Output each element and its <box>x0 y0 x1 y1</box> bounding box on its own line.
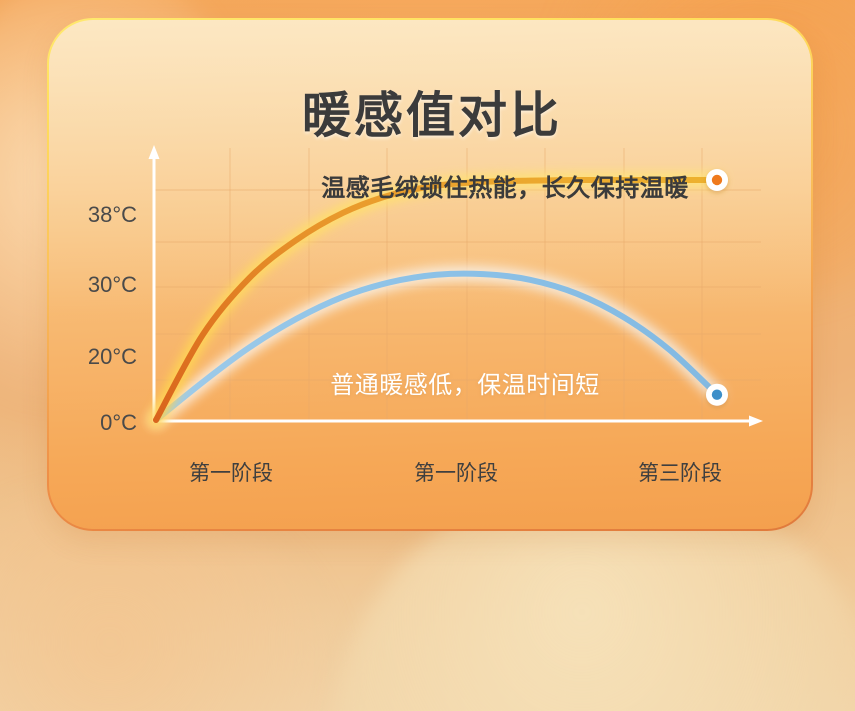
x-axis-arrow <box>749 416 763 427</box>
y-axis-arrow <box>149 145 160 159</box>
page-root: 暖感值对比 <box>0 0 855 711</box>
annotation-ordinary: 普通暖感低，保温时间短 <box>255 365 675 400</box>
y-tick-label-20: 20°C <box>51 344 137 370</box>
y-tick-label-30: 30°C <box>51 272 137 298</box>
series-ordinary-endpoint[interactable] <box>706 384 728 406</box>
y-tick-label-0: 0°C <box>51 410 137 436</box>
warmth-comparison-chart: 38°C 30°C 20°C 0°C 第一阶段 第一阶段 第三阶段 温感毛绒锁住… <box>49 20 813 531</box>
x-tick-label-stage-3: 第三阶段 <box>595 457 765 487</box>
x-tick-label-stage-2: 第一阶段 <box>371 457 541 487</box>
x-tick-label-stage-1: 第一阶段 <box>146 457 316 487</box>
y-tick-label-38: 38°C <box>51 202 137 228</box>
chart-canvas <box>49 20 813 531</box>
comparison-card: 暖感值对比 <box>47 18 813 531</box>
annotation-warm-plush: 温感毛绒锁住热能，长久保持温暖 <box>245 168 765 203</box>
